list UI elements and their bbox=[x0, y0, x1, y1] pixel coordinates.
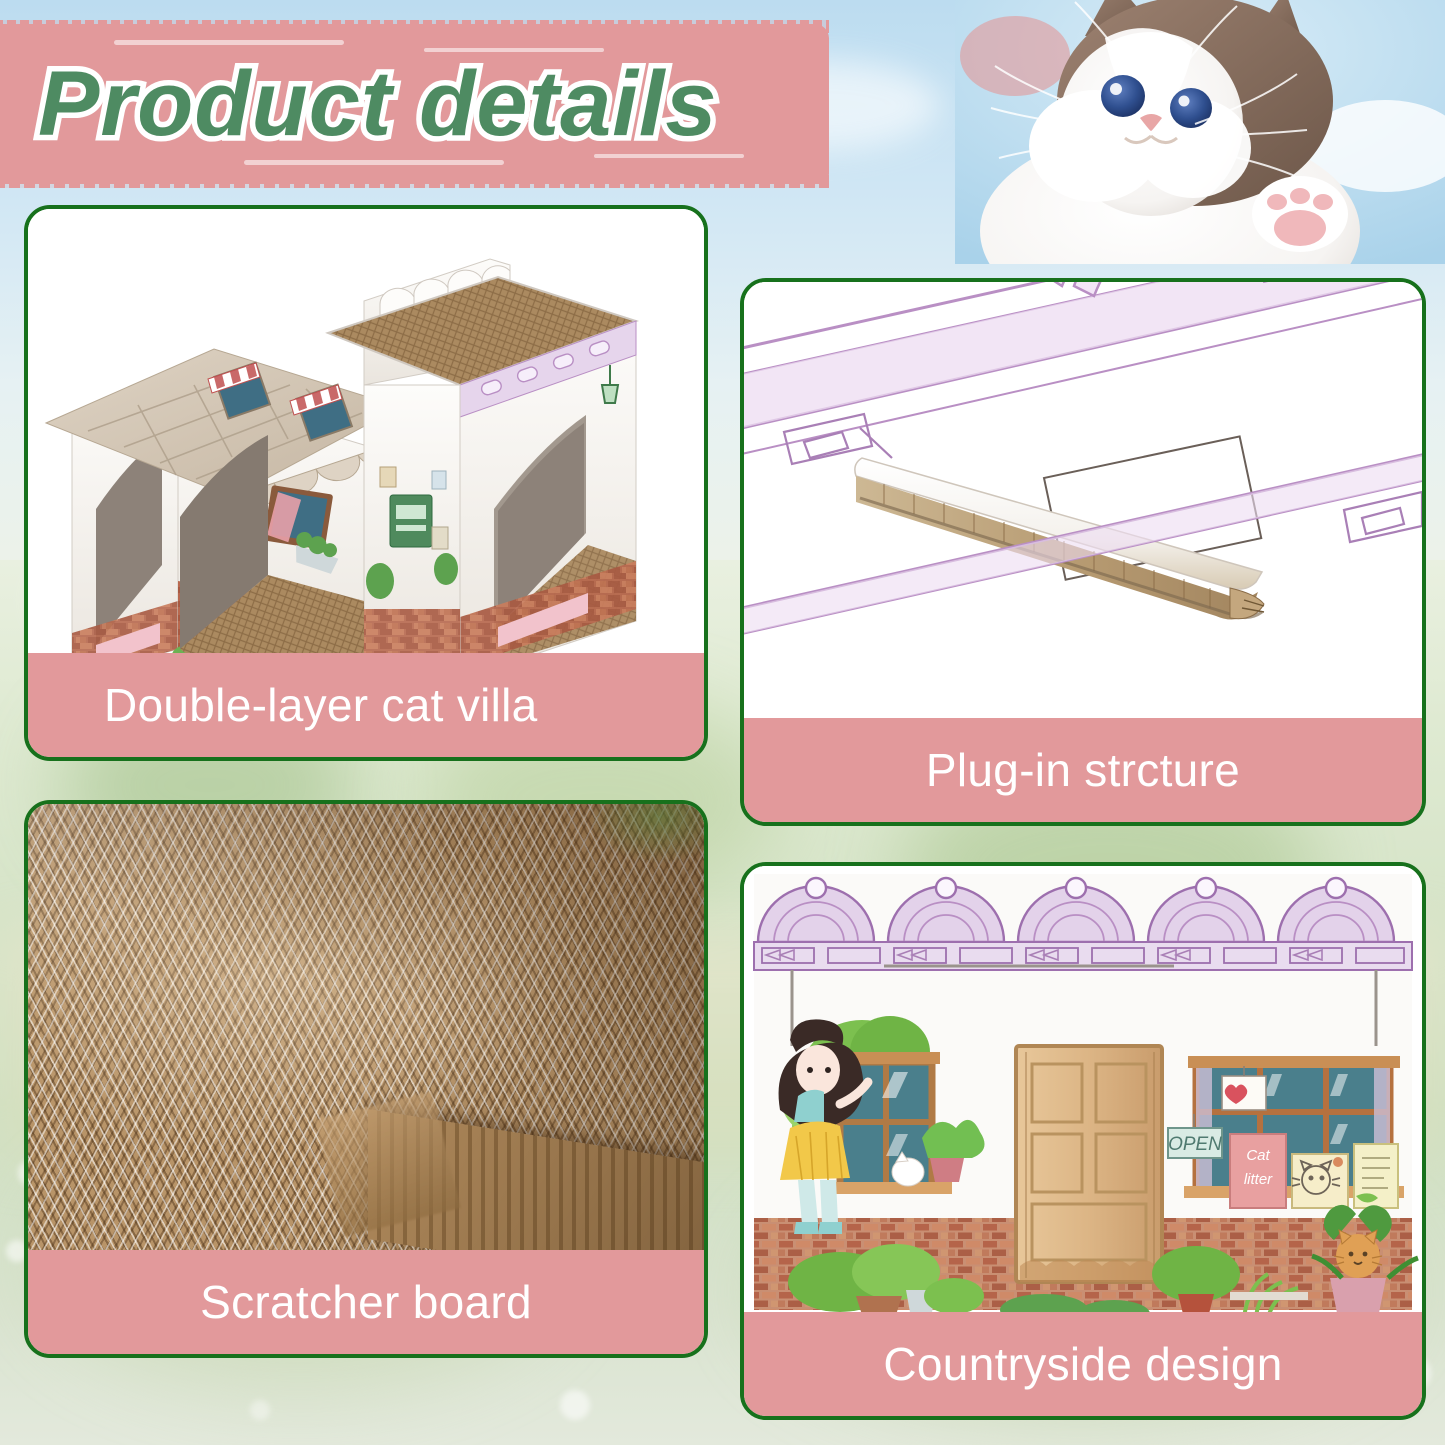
banner-top-edge bbox=[0, 20, 829, 33]
bokeh-dot bbox=[560, 1390, 590, 1420]
card-caption: Plug-in strcture bbox=[744, 718, 1422, 822]
header-banner: Product details bbox=[0, 24, 829, 184]
detail-card-countryside-design: OPEN Cat litter bbox=[740, 862, 1426, 1420]
card-caption: Double-layer cat villa bbox=[28, 653, 704, 757]
page-title: Product details bbox=[38, 44, 798, 164]
scratcher-board-photo bbox=[28, 804, 704, 1256]
ragdoll-kitten-photo bbox=[955, 0, 1445, 264]
cat-litter-poster-line2: litter bbox=[1244, 1171, 1273, 1188]
banner-bottom-edge bbox=[0, 175, 829, 188]
double-layer-cat-villa-photo bbox=[28, 209, 704, 661]
shop-open-sign-text: OPEN bbox=[1168, 1134, 1222, 1155]
cat-litter-poster-line1: Cat bbox=[1246, 1147, 1270, 1164]
detail-card-double-layer-cat-villa: Double-layer cat villa bbox=[24, 205, 708, 761]
card-caption: Countryside design bbox=[744, 1312, 1422, 1416]
detail-card-scratcher-board: Scratcher board bbox=[24, 800, 708, 1358]
green-background-hint bbox=[588, 804, 704, 864]
corrugated-vignette bbox=[28, 804, 704, 1256]
bokeh-dot bbox=[250, 1400, 270, 1420]
card-caption: Scratcher board bbox=[28, 1250, 704, 1354]
corrugated-texture bbox=[28, 804, 704, 1256]
plug-in-structure-photo bbox=[744, 282, 1422, 722]
countryside-design-photo: OPEN Cat litter bbox=[744, 866, 1422, 1318]
detail-card-plug-in-structure: Plug-in strcture bbox=[740, 278, 1426, 826]
